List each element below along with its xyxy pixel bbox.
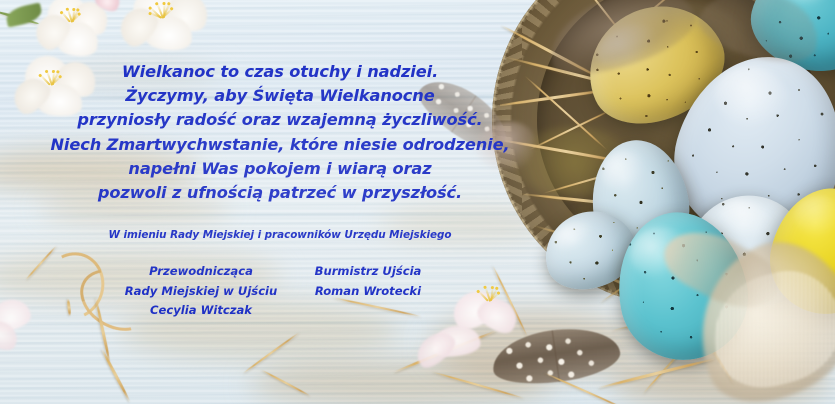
signature-right-name: Roman Wrotecki bbox=[282, 282, 454, 302]
blossom-stamens-a bbox=[58, 8, 84, 30]
greeting-line-1: Wielkanoc to czas otuchy i nadziei. bbox=[0, 60, 560, 84]
greeting-line-4: Niech Zmartwychwstanie, które niesie odr… bbox=[0, 133, 560, 157]
signature-left-role: Przewodnicząca bbox=[106, 262, 296, 282]
greeting-text-block: Wielkanoc to czas otuchy i nadziei. Życz… bbox=[0, 60, 560, 205]
greeting-line-2: Życzymy, aby Święta Wielkanocne bbox=[0, 84, 560, 108]
greeting-line-5: napełni Was pokojem i wiarą oraz bbox=[0, 157, 560, 181]
signature-left: Przewodnicząca Rady Miejskiej w Ujściu C… bbox=[106, 262, 296, 321]
signature-left-body: Rady Miejskiej w Ujściu bbox=[106, 282, 296, 302]
greeting-line-6: pozwoli z ufnością patrzeć w przyszłość. bbox=[0, 181, 560, 205]
signature-right: Burmistrz Ujścia Roman Wrotecki bbox=[282, 262, 454, 301]
easter-greeting-card: Wielkanoc to czas otuchy i nadziei. Życz… bbox=[0, 0, 835, 404]
blossom-stamens-c bbox=[148, 2, 178, 28]
on-behalf-of-line: W imieniu Rady Miejskiej i pracowników U… bbox=[0, 229, 560, 241]
blossom-stamens-d bbox=[476, 286, 504, 310]
greeting-line-3: przyniosły radość oraz wzajemną życzliwo… bbox=[0, 108, 560, 132]
signature-left-name: Cecylia Witczak bbox=[106, 301, 296, 321]
signature-right-role: Burmistrz Ujścia bbox=[282, 262, 454, 282]
